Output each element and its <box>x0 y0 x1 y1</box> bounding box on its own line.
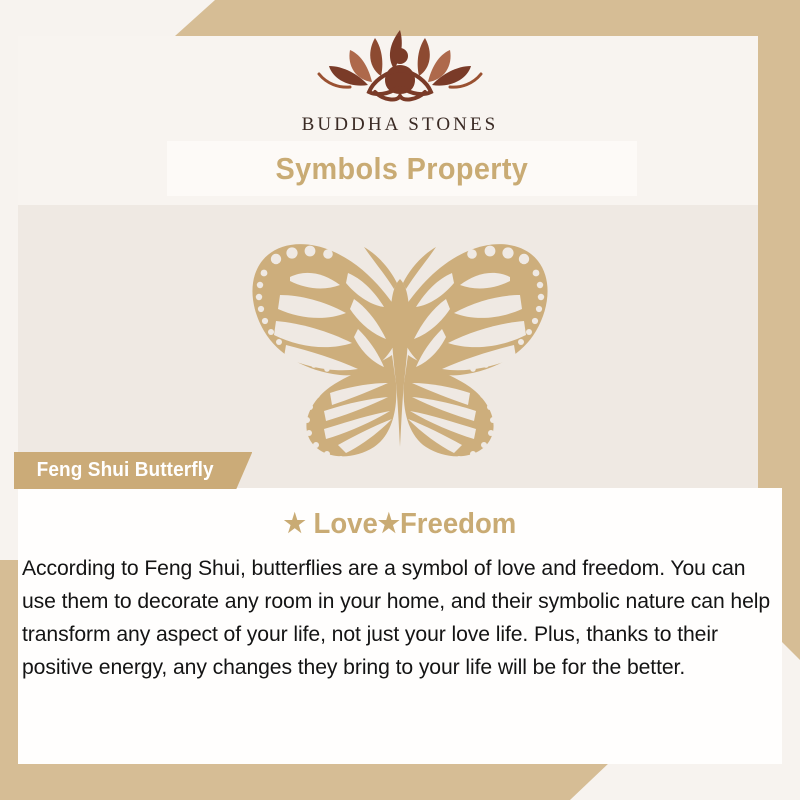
tag-label: Feng Shui Butterfly <box>37 459 214 482</box>
gold-bottom-band <box>0 762 610 800</box>
heading-word-love: Love <box>313 508 377 540</box>
butterfly-icon <box>220 233 580 468</box>
heading-word-freedom: Freedom <box>400 508 516 540</box>
love-freedom-heading: ★ Love★Freedom <box>20 508 780 541</box>
description-text: According to Feng Shui, butterflies are … <box>22 552 773 684</box>
brand-logo: BUDDHA STONES <box>0 22 800 136</box>
feng-shui-butterfly-tag: Feng Shui Butterfly <box>14 452 252 489</box>
lotus-meditation-icon <box>305 22 495 110</box>
star-middle-icon: ★ <box>378 508 400 538</box>
page-title: Symbols Property <box>276 151 529 187</box>
star-left-icon: ★ <box>284 508 306 538</box>
butterfly-illustration <box>0 225 800 475</box>
promo-card: BUDDHA STONES Symbols Property <box>0 0 800 800</box>
title-banner: Symbols Property <box>167 141 637 196</box>
brand-name: BUDDHA STONES <box>302 114 499 136</box>
gold-left-band <box>0 560 18 800</box>
